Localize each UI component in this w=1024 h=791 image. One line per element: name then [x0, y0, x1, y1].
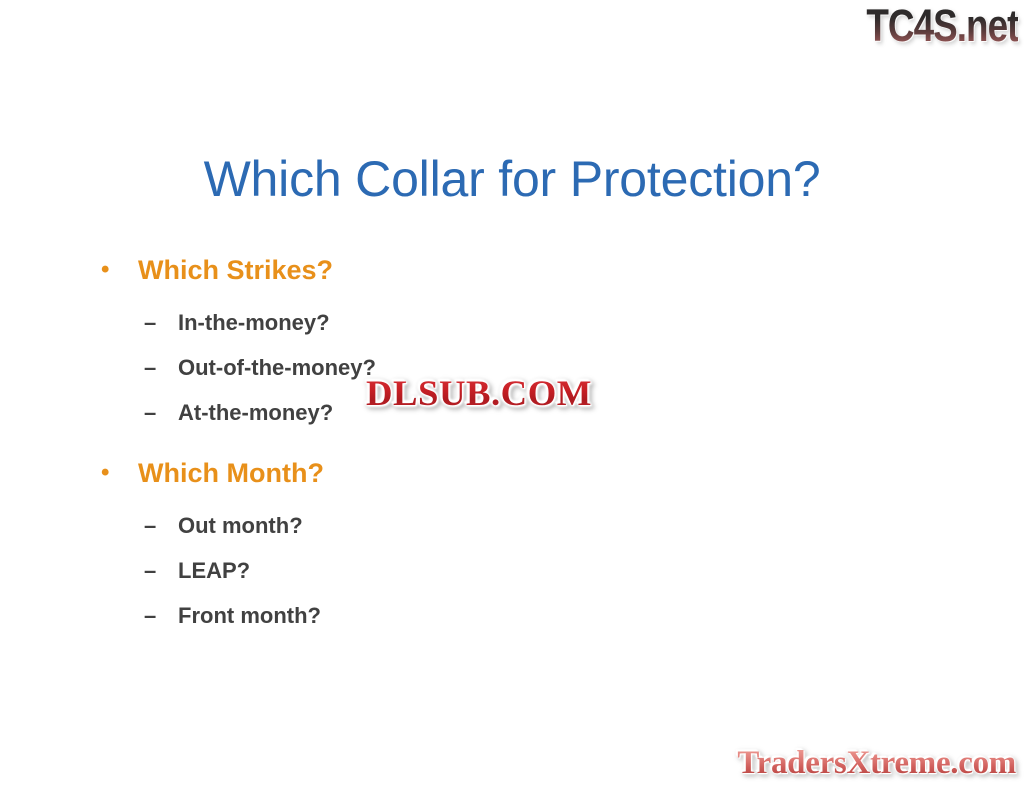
outline-item-level2: – Out month? — [92, 503, 872, 548]
bullet-dash-icon: – — [144, 548, 168, 593]
bullet-dash-icon: – — [144, 390, 168, 435]
tradersxtreme-brand-logo: TradersXtreme.com — [737, 745, 1016, 781]
bullet-dash-icon: – — [144, 593, 168, 638]
tc4s-brand-logo: TC4S.net — [866, 2, 1018, 50]
outline-heading-level1: • Which Strikes? — [92, 246, 872, 294]
dlsub-watermark: DLSUB.COM — [366, 374, 592, 412]
outline-item-label: Front month? — [178, 603, 321, 628]
bullet-dash-icon: – — [144, 300, 168, 345]
outline-item-label: At-the-money? — [178, 400, 333, 425]
outline-item-label: LEAP? — [178, 558, 250, 583]
outline-heading-label: Which Month? — [138, 458, 324, 488]
bullet-dash-icon: – — [144, 345, 168, 390]
presentation-slide: TC4S.net Which Collar for Protection? • … — [0, 0, 1024, 791]
outline-item-label: Out-of-the-money? — [178, 355, 376, 380]
outline-item-level2: – LEAP? — [92, 548, 872, 593]
outline-heading-label: Which Strikes? — [138, 255, 333, 285]
page-title: Which Collar for Protection? — [0, 149, 1024, 209]
outline-heading-level1: • Which Month? — [92, 449, 872, 497]
outline-group-spacer — [92, 435, 872, 449]
bullet-dot-icon: • — [101, 449, 121, 497]
outline-item-level2: – Front month? — [92, 593, 872, 638]
outline-group: • Which Month? – Out month? – LEAP? – Fr… — [92, 449, 872, 638]
outline-item-label: Out month? — [178, 513, 303, 538]
bullet-dash-icon: – — [144, 503, 168, 548]
slide-body-outline: • Which Strikes? – In-the-money? – Out-o… — [92, 246, 872, 638]
bullet-dot-icon: • — [101, 246, 121, 294]
outline-item-label: In-the-money? — [178, 310, 330, 335]
outline-item-level2: – In-the-money? — [92, 300, 872, 345]
